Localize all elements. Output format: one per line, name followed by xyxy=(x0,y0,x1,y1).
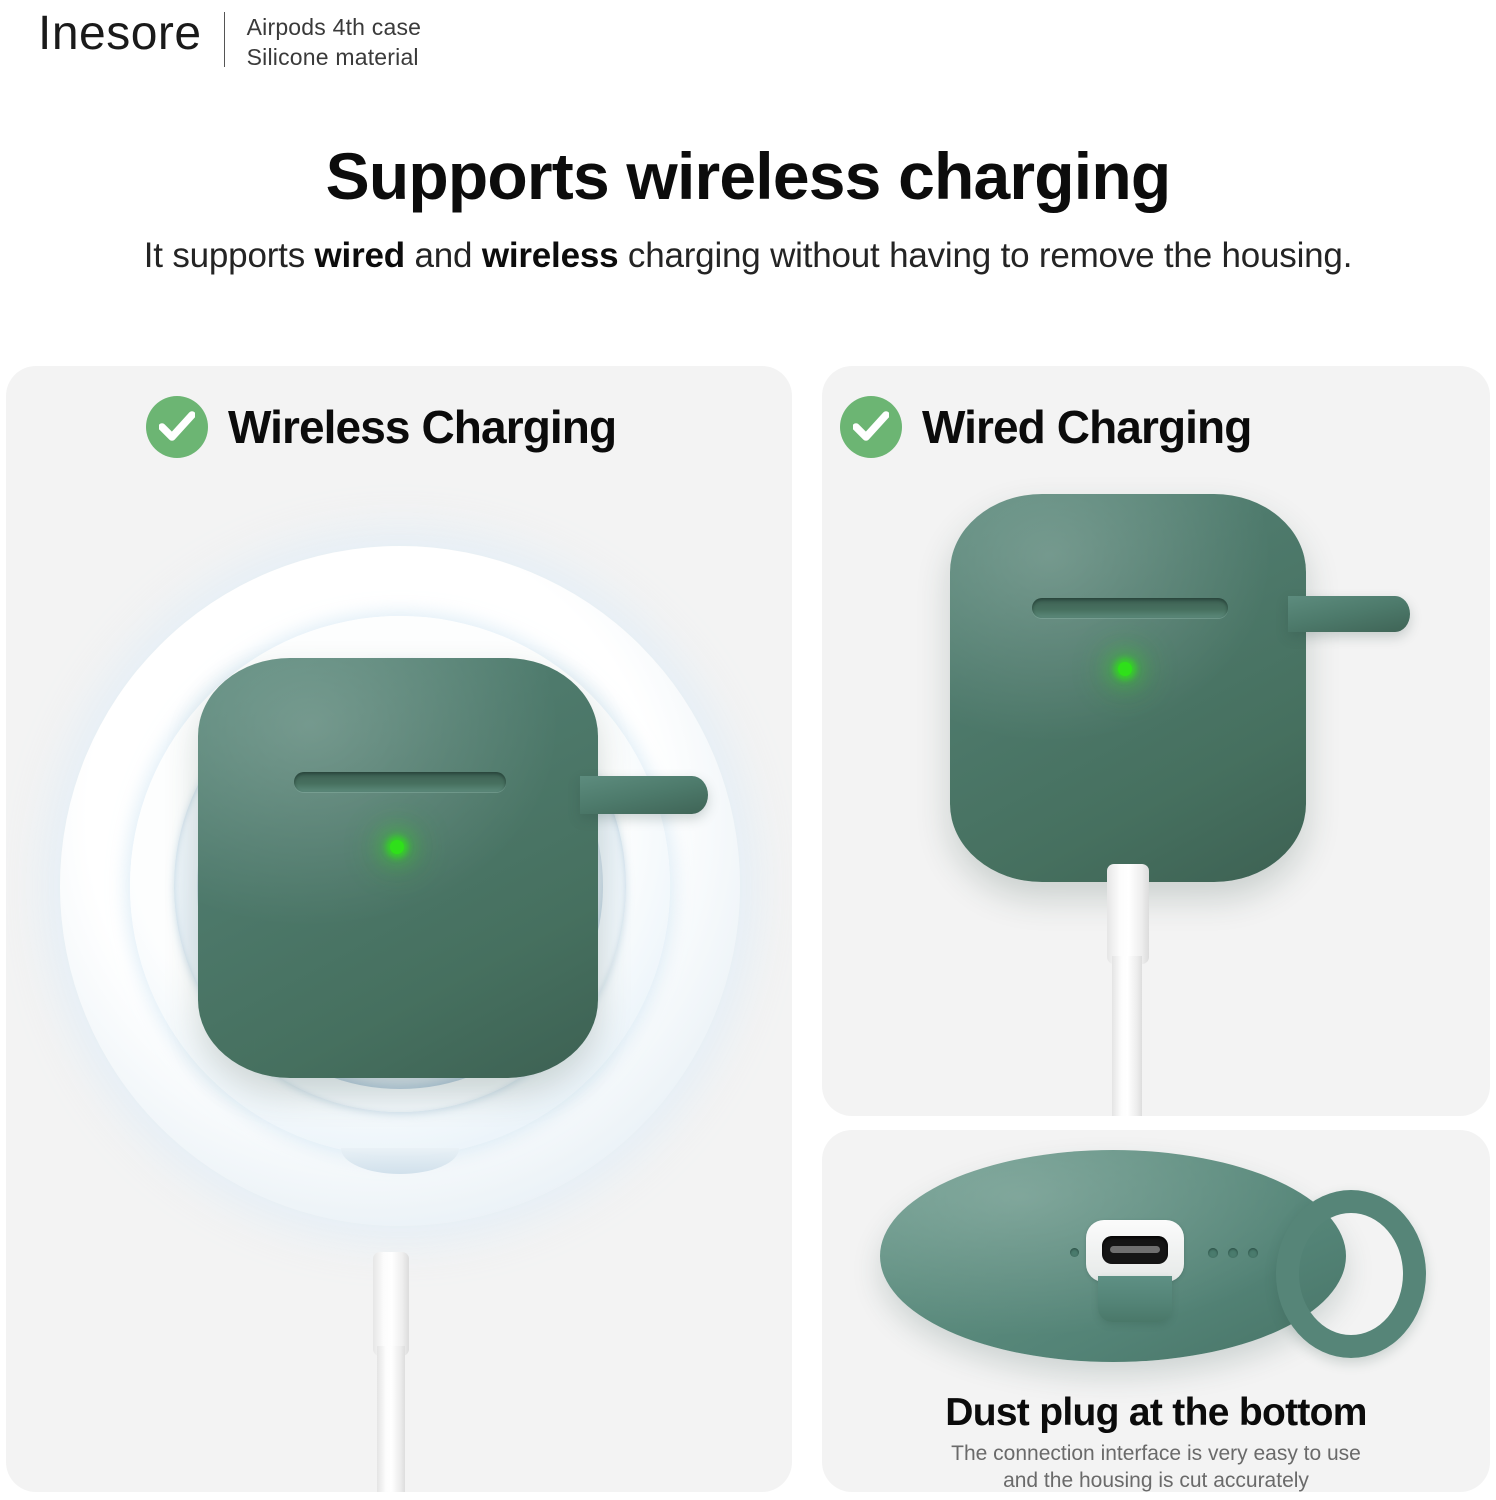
wireless-charging-heading: Wireless Charging xyxy=(146,396,616,458)
speaker-hole-2 xyxy=(1228,1248,1238,1258)
brand-tagline-line-2: Silicone material xyxy=(247,42,422,72)
pad-charging-cable xyxy=(377,1346,405,1492)
dust-plug-subtitle: The connection interface is very easy to… xyxy=(822,1441,1490,1495)
dust-plug-flap xyxy=(1098,1276,1172,1322)
subtitle-text-1: It supports xyxy=(144,236,315,275)
wired-charging-heading: Wired Charging xyxy=(840,396,1251,458)
subtitle-bold-wireless: wireless xyxy=(482,236,619,275)
subtitle-text-2: and xyxy=(405,236,482,275)
panel-wireless-charging xyxy=(6,366,792,1492)
airpods-case-wired xyxy=(950,494,1306,882)
usb-c-connector xyxy=(1107,864,1149,964)
airpods-case-wireless xyxy=(198,658,598,1078)
subtitle-bold-wired: wired xyxy=(315,236,405,275)
carabiner-tab-wireless xyxy=(580,776,708,814)
carabiner-loop-ring xyxy=(1276,1190,1426,1358)
check-icon xyxy=(146,396,208,458)
subtitle-text-3: charging without having to remove the ho… xyxy=(618,236,1352,275)
carabiner-tab-wired xyxy=(1288,596,1410,632)
pad-cable-connector xyxy=(373,1252,409,1356)
brand-tagline-line-1: Airpods 4th case xyxy=(247,12,422,42)
usb-c-charging-cable xyxy=(1112,956,1142,1116)
dust-plug-caption: Dust plug at the bottom The connection i… xyxy=(822,1392,1490,1495)
dust-plug-subtitle-line-2: and the housing is cut accurately xyxy=(822,1468,1490,1495)
page-subtitle: It supports wired and wireless charging … xyxy=(0,236,1496,276)
dust-plug-title: Dust plug at the bottom xyxy=(822,1392,1490,1435)
speaker-hole-1 xyxy=(1208,1248,1218,1258)
brand-tagline: Airpods 4th case Silicone material xyxy=(225,6,422,73)
speaker-hole-3 xyxy=(1248,1248,1258,1258)
wireless-charging-label: Wireless Charging xyxy=(228,400,616,454)
check-icon xyxy=(840,396,902,458)
panel-wired-charging xyxy=(822,366,1490,1116)
brand-header: Inesore Airpods 4th case Silicone materi… xyxy=(38,6,421,73)
case-lid-groove-wired xyxy=(1032,598,1228,618)
wired-charging-label: Wired Charging xyxy=(922,400,1251,454)
charging-led-indicator xyxy=(390,840,404,854)
charging-led-indicator-wired xyxy=(1118,662,1132,676)
page-title: Supports wireless charging xyxy=(0,138,1496,214)
microphone-hole xyxy=(1070,1248,1079,1257)
dust-plug-subtitle-line-1: The connection interface is very easy to… xyxy=(822,1441,1490,1468)
brand-name: Inesore xyxy=(38,6,224,63)
usb-c-port-pin xyxy=(1110,1246,1160,1253)
wireless-charging-pad xyxy=(28,506,772,1266)
case-lid-groove xyxy=(294,772,506,792)
